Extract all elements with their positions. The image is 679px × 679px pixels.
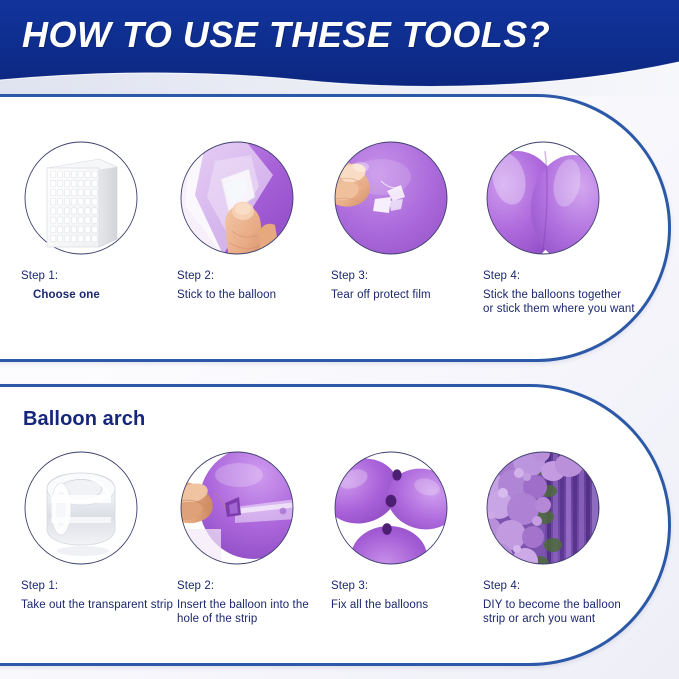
stick-to-balloon-image (177, 135, 297, 263)
step-description: Choose one (21, 288, 179, 303)
step-caption: Step 3: Fix all the balloons (331, 579, 489, 612)
page-header: HOW TO USE THESE TOOLS? (0, 0, 679, 96)
step-label: Step 4: (483, 579, 641, 594)
step-label: Step 2: (177, 269, 335, 284)
step-label: Step 3: (331, 579, 489, 594)
transparent-strip-image (21, 445, 141, 573)
step-caption: Step 1: Choose one (21, 269, 179, 302)
step-caption: Step 3: Tear off protect film (331, 269, 489, 302)
step-label: Step 3: (331, 269, 489, 284)
step-caption: Step 1: Take out the transparent strip (21, 579, 179, 612)
step-label: Step 4: (483, 269, 641, 284)
step-list-2: Step 1: Take out the transparent strip (0, 445, 668, 627)
instructions-panel-1: Step 1: Choose one (0, 94, 671, 362)
step-caption: Step 2: Stick to the balloon (177, 269, 335, 302)
step-label: Step 1: (21, 579, 179, 594)
step-caption: Step 2: Insert the balloon into thehole … (177, 579, 335, 627)
balloon-arch-result-image (483, 445, 603, 573)
panel-heading: Balloon arch (23, 408, 145, 431)
step-description: Take out the transparent strip (21, 598, 179, 613)
step-item[interactable]: Step 1: Choose one (19, 135, 179, 317)
step-caption: Step 4: DIY to become the balloonstrip o… (483, 579, 641, 627)
step-item[interactable]: Step 3: Tear off protect film (329, 135, 489, 317)
step-item[interactable]: Step 4: Stick the balloons togetheror st… (481, 135, 641, 317)
balloons-together-image (483, 135, 603, 263)
glue-dot-sheet-image (21, 135, 141, 263)
instructions-panel-2: Balloon arch (0, 384, 671, 666)
step-list-1: Step 1: Choose one (0, 135, 668, 317)
step-label: Step 2: (177, 579, 335, 594)
step-description: Tear off protect film (331, 288, 489, 303)
insert-balloon-image (177, 445, 297, 573)
fix-balloons-image (331, 445, 451, 573)
step-item[interactable]: Step 2: Stick to the balloon (175, 135, 335, 317)
step-description: Insert the balloon into thehole of the s… (177, 598, 335, 627)
step-item[interactable]: Step 4: DIY to become the balloonstrip o… (481, 445, 641, 627)
step-description: DIY to become the balloonstrip or arch y… (483, 598, 641, 627)
step-description: Fix all the balloons (331, 598, 489, 613)
step-description: Stick to the balloon (177, 288, 335, 303)
step-caption: Step 4: Stick the balloons togetheror st… (483, 269, 641, 317)
tear-off-film-image (331, 135, 451, 263)
step-description: Stick the balloons togetheror stick them… (483, 288, 641, 317)
page-title: HOW TO USE THESE TOOLS? (22, 14, 550, 56)
step-label: Step 1: (21, 269, 179, 284)
step-item[interactable]: Step 2: Insert the balloon into thehole … (175, 445, 335, 627)
step-item[interactable]: Step 1: Take out the transparent strip (19, 445, 179, 627)
step-item[interactable]: Step 3: Fix all the balloons (329, 445, 489, 627)
